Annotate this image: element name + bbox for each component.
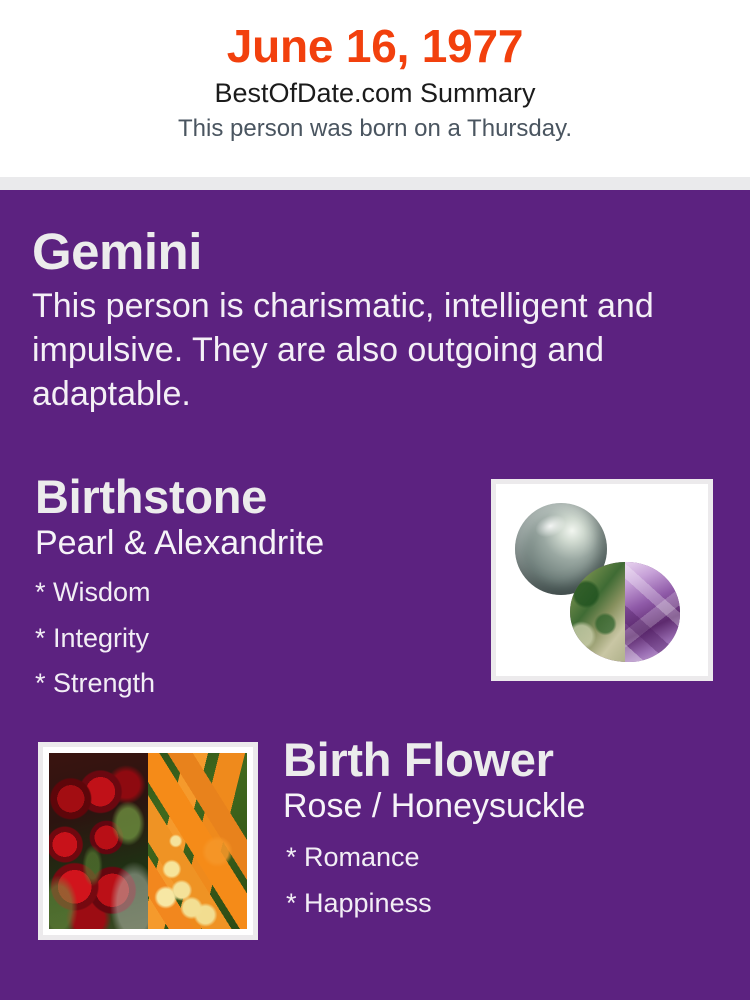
- birth-flower-trait-list: * Romance * Happiness: [283, 826, 723, 925]
- birth-flower-section: Birth Flower Rose / Honeysuckle * Romanc…: [283, 735, 723, 926]
- list-item: * Romance: [286, 835, 723, 880]
- rose-photo-half: [49, 753, 148, 929]
- divider: [0, 177, 750, 190]
- site-name: BestOfDate.com Summary: [0, 70, 750, 109]
- gemstone-artwork: [496, 484, 708, 676]
- birth-flower-names: Rose / Honeysuckle: [283, 784, 723, 826]
- page-title-date: June 16, 1977: [0, 0, 750, 70]
- alexandrite-icon: [570, 562, 680, 662]
- list-item: * Integrity: [35, 616, 475, 661]
- honeysuckle-photo-half: [148, 753, 247, 929]
- zodiac-description: This person is charismatic, intelligent …: [32, 278, 697, 417]
- birthstone-image: [496, 484, 708, 676]
- alexandrite-faceted-half: [625, 562, 680, 662]
- zodiac-sign-title: Gemini: [32, 226, 712, 278]
- birth-flower-image: [43, 747, 253, 935]
- birthstone-names: Pearl & Alexandrite: [35, 521, 475, 563]
- birth-flower-image-frame: [38, 742, 258, 940]
- birthstone-trait-list: * Wisdom * Integrity * Strength: [35, 563, 475, 705]
- alexandrite-rough-half: [570, 562, 627, 662]
- zodiac-section: Gemini This person is charismatic, intel…: [32, 226, 712, 417]
- flower-artwork: [49, 753, 247, 929]
- header: June 16, 1977 BestOfDate.com Summary Thi…: [0, 0, 750, 177]
- list-item: * Happiness: [286, 881, 723, 926]
- birthstone-title: Birthstone: [35, 472, 475, 521]
- birthstone-section: Birthstone Pearl & Alexandrite * Wisdom …: [35, 472, 475, 706]
- summary-card: June 16, 1977 BestOfDate.com Summary Thi…: [0, 0, 750, 1000]
- birthstone-image-frame: [491, 479, 713, 681]
- list-item: * Strength: [35, 661, 475, 706]
- list-item: * Wisdom: [35, 570, 475, 615]
- birth-flower-title: Birth Flower: [283, 735, 723, 784]
- birth-weekday-text: This person was born on a Thursday.: [0, 109, 750, 142]
